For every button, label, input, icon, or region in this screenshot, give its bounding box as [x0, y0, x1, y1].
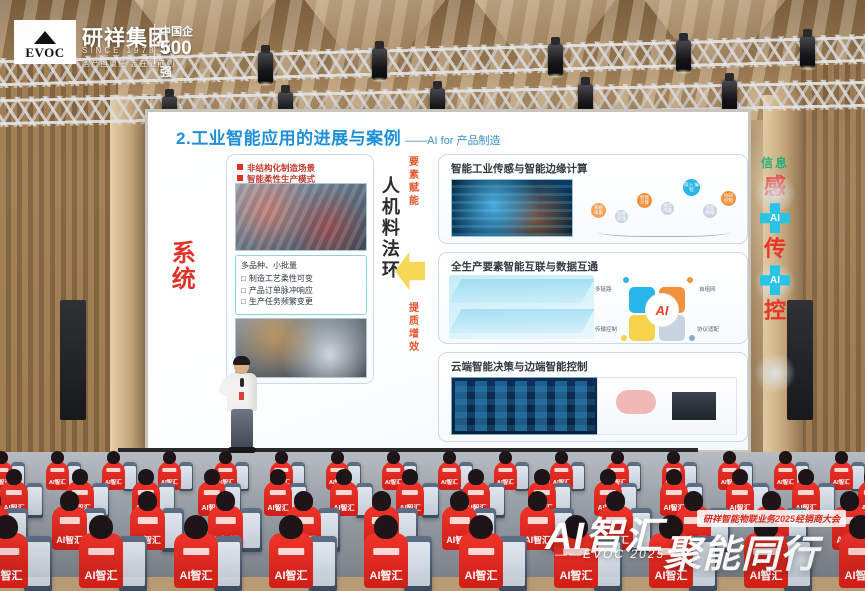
rail-item-chuan: 传	[752, 237, 798, 261]
shirt-chest-logo	[59, 517, 79, 523]
shirt-chest-logo	[449, 517, 469, 523]
shirt-chest-logo	[555, 468, 568, 472]
audience-head	[89, 515, 114, 539]
shirt-chest-logo	[51, 468, 64, 472]
sensor-node-4: 嵌入 编程	[683, 179, 700, 196]
audience-head	[107, 451, 120, 464]
chair-back-panel	[516, 466, 528, 489]
puzzle-dot-1	[687, 277, 693, 283]
slide-center-rail-label: 人机料法环	[380, 176, 399, 281]
corporate-logo: EVOC 研祥集团 SINCE 1978 国产担重任 志在最前列 中国企业 50…	[14, 12, 200, 64]
audience-head	[723, 451, 736, 464]
shirt-chest-logo	[215, 517, 235, 523]
shirt-slogan: AI智汇	[370, 571, 403, 582]
audience-head	[204, 469, 220, 485]
shirt-chest-logo	[336, 490, 352, 495]
stage-light-1	[258, 52, 273, 84]
stage-light-4	[676, 40, 691, 72]
audience-head	[336, 469, 352, 485]
audience-chair	[119, 536, 146, 591]
shirt-slogan: AI智汇	[0, 571, 23, 582]
audience-head	[270, 469, 286, 485]
chair-back-panel	[572, 466, 584, 489]
chair-back-panel	[27, 542, 50, 586]
sensor-node-baseline	[597, 225, 731, 237]
audience-head	[294, 491, 314, 510]
audience-head	[51, 451, 64, 464]
audience-member: AI智汇	[269, 533, 313, 588]
puzzle-core-ai-label: AI	[645, 293, 679, 327]
shirt-chest-logo	[0, 548, 19, 556]
sub-box-item-0: 制造工艺柔性可变	[241, 273, 361, 285]
shirt-chest-logo	[88, 548, 114, 556]
ai-puzzle-graphic: AI 多链路 自组网 传输控制 协议适配	[595, 273, 735, 343]
presenter-hair	[233, 356, 250, 365]
wall-column-left	[110, 95, 150, 470]
rail-cap-label: 信息	[752, 154, 798, 171]
chair-back-panel	[242, 513, 260, 548]
left-sub-box: 多品种、小批量 制造工艺柔性可变 产品订单脉冲响应 生产任务频繁变更	[235, 255, 367, 315]
evoc-wordmark: EVOC	[25, 45, 64, 61]
network-layers-diagram	[449, 275, 594, 339]
audience-head	[402, 469, 418, 485]
sensor-node-0: 系统 采集	[591, 203, 606, 218]
shirt-slogan: AI智汇	[85, 571, 118, 582]
audience-head	[138, 491, 158, 510]
card-sensing-title: 智能工业传感与智能边缘计算	[451, 161, 588, 176]
audience-head	[534, 469, 550, 485]
shirt-chest-logo	[373, 548, 399, 556]
chair-back-panel	[27, 487, 42, 515]
audience-head	[798, 469, 814, 485]
audience-member: AI智汇	[0, 533, 28, 588]
evoc-logo-mark: EVOC	[14, 20, 76, 64]
logo-divider	[154, 24, 155, 64]
chair-back-panel	[407, 542, 430, 586]
sensor-node-6: 协同 控制	[721, 191, 736, 206]
audience-head	[331, 451, 344, 464]
audience-member: AI智汇	[438, 461, 461, 490]
event-subline: EVOC 2025	[555, 547, 665, 561]
shirt-slogan: AI智汇	[49, 481, 66, 487]
shirt-slogan: AI智汇	[180, 571, 213, 582]
audience-chair	[24, 536, 51, 591]
ai-chip-visual	[451, 179, 573, 237]
stage-light-2	[372, 48, 387, 80]
shirt-chest-logo	[107, 468, 120, 472]
audience-head	[374, 515, 399, 539]
sub-box-heading: 多品种、小批量	[241, 260, 361, 271]
shirt-slogan: AI智汇	[465, 571, 498, 582]
shirt-chest-logo	[183, 548, 209, 556]
audience-member: AI智汇	[459, 533, 503, 588]
audience-head	[138, 469, 154, 485]
sensor-node-5: 深度 网络	[703, 204, 717, 218]
presenter-person	[222, 358, 262, 454]
audience-head	[279, 515, 304, 539]
shirt-chest-logo	[137, 517, 157, 523]
slide-title: 2.工业智能应用的进展与案例——AI for 产品制造	[176, 124, 501, 149]
audience-head	[219, 451, 232, 464]
puzzle-label-1: 自组网	[699, 285, 716, 293]
puzzle-label-3: 协议适配	[697, 325, 719, 333]
shirt-slogan: AI智汇	[777, 481, 794, 487]
event-headline-right: 聚能同行	[663, 523, 819, 578]
slide-center-bottom-label: 提质增效	[406, 302, 417, 354]
shirt-slogan: AI智汇	[833, 481, 850, 487]
audience-head	[611, 451, 624, 464]
audience-head	[835, 451, 848, 464]
cloud-dashboard-screenshot	[451, 377, 599, 435]
audience-head	[275, 451, 288, 464]
shirt-chest-logo	[278, 548, 304, 556]
sub-box-item-1: 产品订单脉冲响应	[241, 285, 361, 297]
edge-control-diagram	[597, 377, 737, 435]
slide-title-main: 工业智能应用的进展与案例	[191, 129, 401, 148]
company-since: SINCE 1978	[82, 46, 156, 55]
pa-speaker-left	[60, 300, 86, 420]
sensor-node-1: 边缘 处理	[615, 210, 628, 223]
audience-head	[499, 451, 512, 464]
chair-back-panel	[312, 542, 335, 586]
audience-head	[216, 491, 236, 510]
sensor-node-2: 智能 计算	[637, 193, 652, 208]
audience-head	[60, 491, 80, 510]
card-interconnect-title: 全生产要素智能互联与数据互通	[451, 259, 598, 274]
audience-head	[667, 451, 680, 464]
shirt-chest-logo	[270, 490, 286, 495]
shirt-slogan: AI智汇	[275, 571, 308, 582]
conference-hall-scene: 2.工业智能应用的进展与案例——AI for 产品制造 系统 非结构化制造场景 …	[0, 0, 865, 577]
stage-light-10	[722, 80, 737, 112]
audience-chair	[499, 536, 526, 591]
sub-box-item-2: 生产任务频繁变更	[241, 296, 361, 308]
slide-left-rail-label: 系统	[168, 240, 193, 292]
rank-number: 500	[160, 38, 192, 59]
audience-chair	[309, 536, 336, 591]
rail-halo-3	[754, 352, 796, 394]
shirt-slogan: AI智汇	[441, 481, 458, 487]
audience-chair	[571, 462, 585, 491]
audience-chair	[214, 536, 241, 591]
slide-title-number: 2.	[176, 129, 191, 148]
puzzle-label-2: 传输控制	[595, 325, 617, 333]
slide-card-cloud: 云端智能决策与边端智能控制	[438, 352, 748, 442]
audience-member: AI智汇	[79, 533, 123, 588]
slide-card-interconnect: 全生产要素智能互联与数据互通 AI 多链路 自组网 传输控制 协议适配	[438, 252, 748, 344]
chair-back-panel	[423, 487, 438, 515]
presenter-shoes	[228, 447, 256, 453]
event-branding-overlay: AI智汇 EVOC 2025 研祥智能物联业务2025经销商大会 聚能同行	[545, 495, 865, 577]
stage-light-3	[548, 44, 563, 76]
presenter-badge	[239, 392, 244, 400]
audience-chair	[404, 536, 431, 591]
audience-chair	[240, 508, 262, 552]
audience-head	[468, 469, 484, 485]
audience-chair	[179, 462, 193, 491]
shirt-chest-logo	[6, 490, 22, 495]
audience-head	[666, 469, 682, 485]
stage-light-5	[800, 36, 815, 68]
starburst-icon	[34, 31, 56, 44]
audience-head	[443, 451, 456, 464]
audience-head	[469, 515, 494, 539]
audience-head	[387, 451, 400, 464]
audience-head	[184, 515, 209, 539]
audience-head	[732, 469, 748, 485]
audience-head	[779, 451, 792, 464]
presenter-legs	[231, 409, 253, 449]
shirt-slogan: AI智汇	[268, 505, 289, 512]
slide-center-top-label: 要素赋能	[406, 156, 417, 208]
shirt-chest-logo	[163, 468, 176, 472]
slide-title-sub: ——AI for 产品制造	[405, 135, 500, 147]
puzzle-dot-0	[623, 277, 629, 283]
shirt-chest-logo	[468, 548, 494, 556]
audience-member: AI智汇	[174, 533, 218, 588]
shirt-chest-logo	[219, 468, 232, 472]
rank-unit: 强	[160, 65, 172, 79]
audience-head	[450, 491, 470, 510]
shirt-chest-logo	[443, 468, 456, 472]
audience-head	[72, 469, 88, 485]
slide-card-sensing: 智能工业传感与智能边缘计算 系统 采集 边缘 处理 智能 计算 通信 传输 嵌入…	[438, 154, 748, 244]
chair-back-panel	[122, 542, 145, 586]
shirt-chest-logo	[835, 468, 848, 472]
audience-head	[555, 451, 568, 464]
industrial-robot-line-photo	[235, 183, 367, 251]
shirt-chest-logo	[468, 490, 484, 495]
sensor-node-3: 通信 传输	[661, 202, 674, 215]
card-cloud-title: 云端智能决策与边端智能控制	[451, 359, 588, 374]
audience-chair	[422, 483, 439, 518]
slide-right-rail: 信息 感 AI 传 AI 控	[752, 154, 798, 444]
shirt-chest-logo	[499, 468, 512, 472]
shirt-chest-logo	[779, 468, 792, 472]
audience-member: AI智汇	[46, 461, 69, 490]
chair-back-panel	[217, 542, 240, 586]
audience-chair	[26, 483, 43, 518]
rank-value: 500强	[160, 38, 200, 82]
audience-member: AI智汇	[364, 533, 408, 588]
chair-back-panel	[180, 466, 192, 489]
puzzle-label-0: 多链路	[595, 285, 612, 293]
audience-chair	[515, 462, 529, 491]
microphone-icon	[240, 378, 244, 387]
audience-head	[6, 469, 22, 485]
audience-head	[163, 451, 176, 464]
audience-head	[600, 469, 616, 485]
shirt-chest-logo	[402, 490, 418, 495]
slide-left-card: 非结构化制造场景 智能柔性生产模式 多品种、小批量 制造工艺柔性可变 产品订单脉…	[226, 154, 374, 384]
puzzle-dot-3	[689, 335, 695, 341]
audience-head	[372, 491, 392, 510]
sensor-node-chart: 系统 采集 边缘 处理 智能 计算 通信 传输 嵌入 编程 深度 网络 协同 控…	[589, 177, 739, 239]
puzzle-dot-2	[621, 335, 627, 341]
chair-back-panel	[502, 542, 525, 586]
shirt-chest-logo	[387, 468, 400, 472]
